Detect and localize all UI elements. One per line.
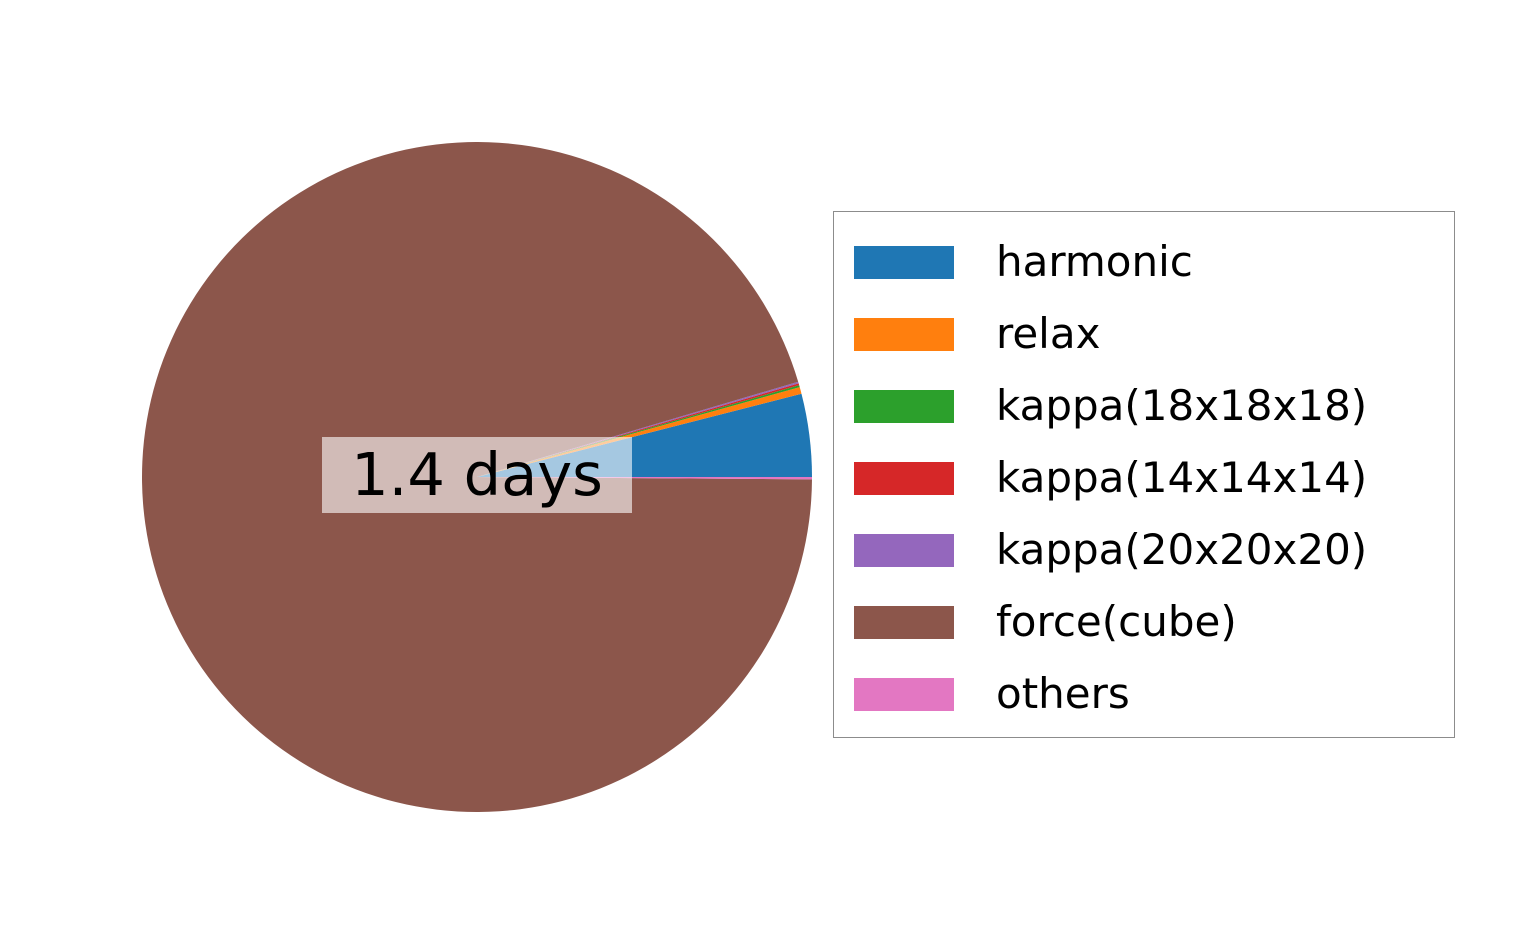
- legend-swatch-kappa-20: [854, 534, 954, 567]
- legend-swatch-others: [854, 678, 954, 711]
- legend-swatch-kappa-14: [854, 462, 954, 495]
- legend-box: harmonicrelaxkappa(18x18x18)kappa(14x14x…: [833, 211, 1455, 738]
- legend-item-2[interactable]: kappa(18x18x18): [834, 370, 1454, 442]
- pie-center-label: 1.4 days: [322, 437, 632, 513]
- pie-chart-figure: 1.4 days harmonicrelaxkappa(18x18x18)kap…: [0, 0, 1514, 951]
- legend-swatch-kappa-18: [854, 390, 954, 423]
- legend-swatch-force-cube: [854, 606, 954, 639]
- legend-label-4: kappa(20x20x20): [996, 529, 1367, 571]
- legend-label-0: harmonic: [996, 241, 1193, 283]
- legend-item-6[interactable]: others: [834, 658, 1454, 730]
- legend-label-6: others: [996, 673, 1130, 715]
- legend-item-4[interactable]: kappa(20x20x20): [834, 514, 1454, 586]
- legend-item-1[interactable]: relax: [834, 298, 1454, 370]
- legend-swatch-relax: [854, 318, 954, 351]
- legend-label-1: relax: [996, 313, 1100, 355]
- legend-label-5: force(cube): [996, 601, 1237, 643]
- legend-label-2: kappa(18x18x18): [996, 385, 1367, 427]
- legend-label-3: kappa(14x14x14): [996, 457, 1367, 499]
- legend-item-0[interactable]: harmonic: [834, 226, 1454, 298]
- legend-item-5[interactable]: force(cube): [834, 586, 1454, 658]
- legend-item-3[interactable]: kappa(14x14x14): [834, 442, 1454, 514]
- legend-list: harmonicrelaxkappa(18x18x18)kappa(14x14x…: [834, 212, 1454, 737]
- legend-swatch-harmonic: [854, 246, 954, 279]
